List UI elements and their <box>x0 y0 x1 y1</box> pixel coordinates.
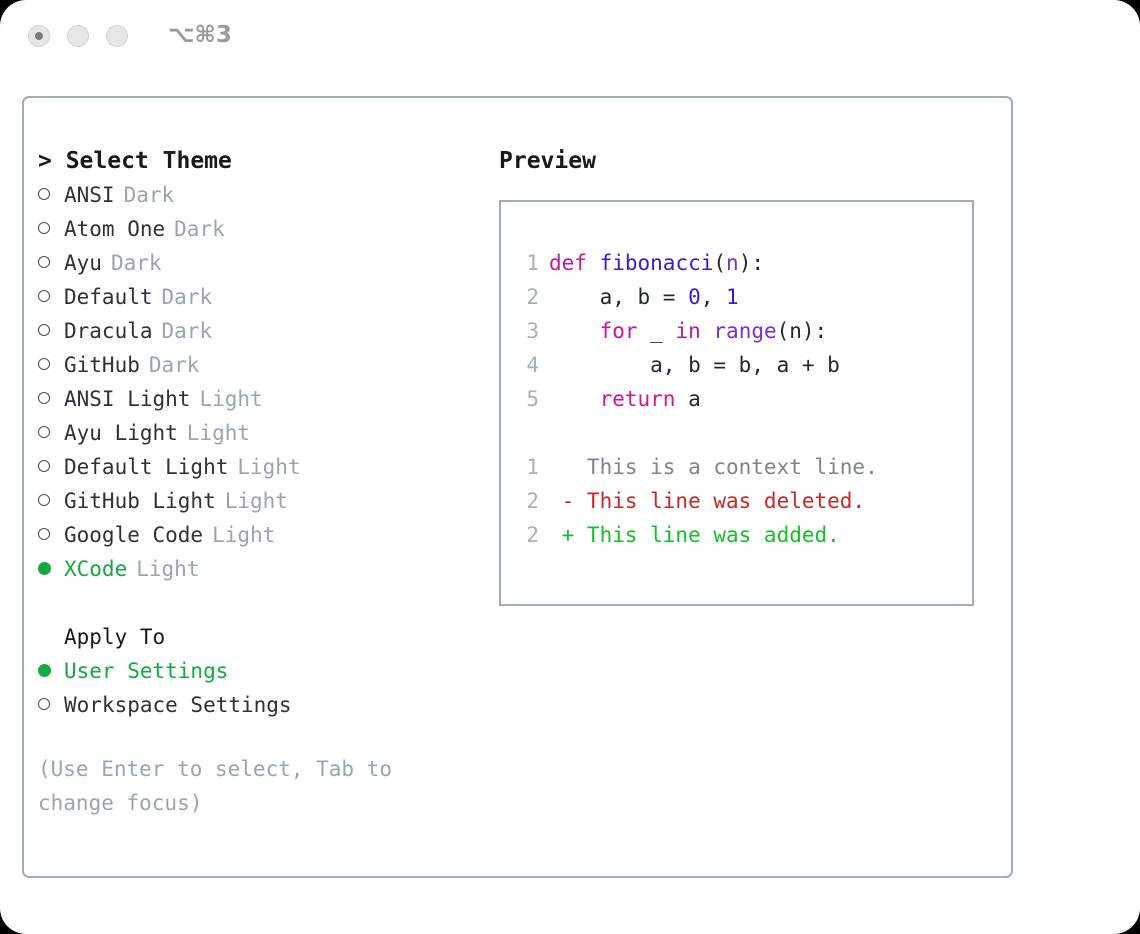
list-spacer <box>38 586 488 620</box>
code-token: , <box>701 285 726 309</box>
diff-line-text: This is a context line. <box>549 455 878 479</box>
window-dot-3-icon[interactable] <box>106 25 128 47</box>
code-token: for <box>600 319 638 343</box>
code-token: a <box>675 387 700 411</box>
theme-badge: Dark <box>149 348 200 382</box>
radio-unselected-icon <box>38 358 50 370</box>
title-bar: ⌥⌘3 <box>0 0 1140 76</box>
code-token <box>549 319 600 343</box>
theme-label: Ayu Light <box>64 416 178 450</box>
theme-badge: Light <box>187 416 250 450</box>
apply-to-label: User Settings <box>64 654 228 688</box>
theme-badge: Light <box>136 552 199 586</box>
theme-item[interactable]: XCodeLight <box>38 552 488 586</box>
theme-item[interactable]: Default LightLight <box>38 450 488 484</box>
diff-line-number: 2 <box>517 518 539 552</box>
theme-item[interactable]: Google CodeLight <box>38 518 488 552</box>
code-token: 1 <box>726 285 739 309</box>
theme-label: Google Code <box>64 518 203 552</box>
radio-unselected-icon <box>38 290 50 302</box>
theme-item[interactable]: ANSIDark <box>38 178 488 212</box>
theme-item[interactable]: Ayu LightLight <box>38 416 488 450</box>
theme-item[interactable]: DraculaDark <box>38 314 488 348</box>
theme-badge: Dark <box>162 314 213 348</box>
theme-label: Dracula <box>64 314 153 348</box>
radio-unselected-icon <box>38 392 50 404</box>
theme-item[interactable]: Atom OneDark <box>38 212 488 246</box>
code-token: (n): <box>777 319 828 343</box>
radio-unselected-icon <box>38 324 50 336</box>
theme-badge: Light <box>199 382 262 416</box>
theme-item[interactable]: GitHub LightLight <box>38 484 488 518</box>
radio-unselected-icon <box>38 188 50 200</box>
code-line-number: 4 <box>517 348 539 382</box>
code-line: 4 a, b = b, a + b <box>517 348 878 382</box>
code-line-number: 1 <box>517 246 539 280</box>
recording-dot-inner-icon <box>35 32 43 40</box>
theme-label: ANSI <box>64 178 115 212</box>
code-token: ( <box>713 251 726 275</box>
code-token: fibonacci <box>600 251 714 275</box>
theme-item[interactable]: ANSI LightLight <box>38 382 488 416</box>
window-dot-2-icon[interactable] <box>67 25 89 47</box>
app-window: ⌥⌘3 > Select Theme ANSIDarkAtom OneDarkA… <box>0 0 1140 934</box>
apply-to-list: User SettingsWorkspace Settings <box>38 654 488 722</box>
code-line: 2 a, b = 0, 1 <box>517 280 878 314</box>
code-token: 0 <box>688 285 701 309</box>
code-line: 5 return a <box>517 382 878 416</box>
theme-label: Atom One <box>64 212 165 246</box>
radio-unselected-icon <box>38 698 50 710</box>
theme-label: Default <box>64 280 153 314</box>
code-token: ): <box>739 251 764 275</box>
preview-column: Preview 1def fibonacci(n):2 a, b = 0, 13… <box>499 144 999 606</box>
window-controls <box>28 25 128 47</box>
diff-line-number: 1 <box>517 450 539 484</box>
theme-label: GitHub Light <box>64 484 216 518</box>
radio-unselected-icon <box>38 222 50 234</box>
code-token: return <box>600 387 676 411</box>
main-panel: > Select Theme ANSIDarkAtom OneDarkAyuDa… <box>22 96 1013 878</box>
radio-unselected-icon <box>38 528 50 540</box>
code-token <box>701 319 714 343</box>
theme-badge: Light <box>212 518 275 552</box>
apply-to-item[interactable]: User Settings <box>38 654 488 688</box>
theme-item[interactable]: AyuDark <box>38 246 488 280</box>
theme-badge: Dark <box>124 178 175 212</box>
apply-to-heading: Apply To <box>38 620 488 654</box>
code-sample: 1def fibonacci(n):2 a, b = 0, 13 for _ i… <box>517 246 878 552</box>
preview-box: 1def fibonacci(n):2 a, b = 0, 13 for _ i… <box>499 200 974 606</box>
theme-item[interactable]: DefaultDark <box>38 280 488 314</box>
diff-line-text: - This line was deleted. <box>549 489 865 513</box>
diff-line-text: + This line was added. <box>549 523 840 547</box>
theme-badge: Light <box>225 484 288 518</box>
theme-badge: Dark <box>174 212 225 246</box>
diff-line: 2 - This line was deleted. <box>517 484 878 518</box>
code-token <box>587 251 600 275</box>
code-line: 1def fibonacci(n): <box>517 246 878 280</box>
radio-unselected-icon <box>38 256 50 268</box>
code-token: in <box>675 319 700 343</box>
theme-label: Default Light <box>64 450 228 484</box>
code-line: 3 for _ in range(n): <box>517 314 878 348</box>
code-line-number: 2 <box>517 280 539 314</box>
code-token: a, b = <box>549 285 688 309</box>
diff-line-number: 2 <box>517 484 539 518</box>
keyboard-shortcut-label: ⌥⌘3 <box>168 22 232 48</box>
code-line-number: 5 <box>517 382 539 416</box>
theme-item[interactable]: GitHubDark <box>38 348 488 382</box>
code-line-number: 3 <box>517 314 539 348</box>
radio-unselected-icon <box>38 494 50 506</box>
code-token: n <box>726 251 739 275</box>
apply-to-label: Workspace Settings <box>64 688 292 722</box>
recording-dot-icon[interactable] <box>28 25 50 47</box>
radio-unselected-icon <box>38 426 50 438</box>
theme-selector-column: > Select Theme ANSIDarkAtom OneDarkAyuDa… <box>38 144 488 820</box>
preview-heading: Preview <box>499 144 999 178</box>
apply-to-item[interactable]: Workspace Settings <box>38 688 488 722</box>
theme-list: ANSIDarkAtom OneDarkAyuDarkDefaultDarkDr… <box>38 178 488 586</box>
code-token: _ <box>638 319 676 343</box>
code-token: def <box>549 251 587 275</box>
theme-label: Ayu <box>64 246 102 280</box>
code-token: range <box>713 319 776 343</box>
code-blank-line <box>517 416 878 450</box>
theme-badge: Dark <box>162 280 213 314</box>
radio-selected-icon <box>38 562 51 575</box>
radio-unselected-icon <box>38 460 50 472</box>
radio-selected-icon <box>38 664 51 677</box>
theme-badge: Light <box>237 450 300 484</box>
theme-label: XCode <box>64 552 127 586</box>
theme-label: GitHub <box>64 348 140 382</box>
theme-label: ANSI Light <box>64 382 190 416</box>
diff-line: 2 + This line was added. <box>517 518 878 552</box>
keyboard-hint-text: (Use Enter to select, Tab to change focu… <box>38 752 438 820</box>
code-token <box>549 387 600 411</box>
theme-badge: Dark <box>111 246 162 280</box>
select-theme-heading: > Select Theme <box>38 144 488 178</box>
code-token: a, b = b, a + b <box>549 353 840 377</box>
diff-line: 1 This is a context line. <box>517 450 878 484</box>
